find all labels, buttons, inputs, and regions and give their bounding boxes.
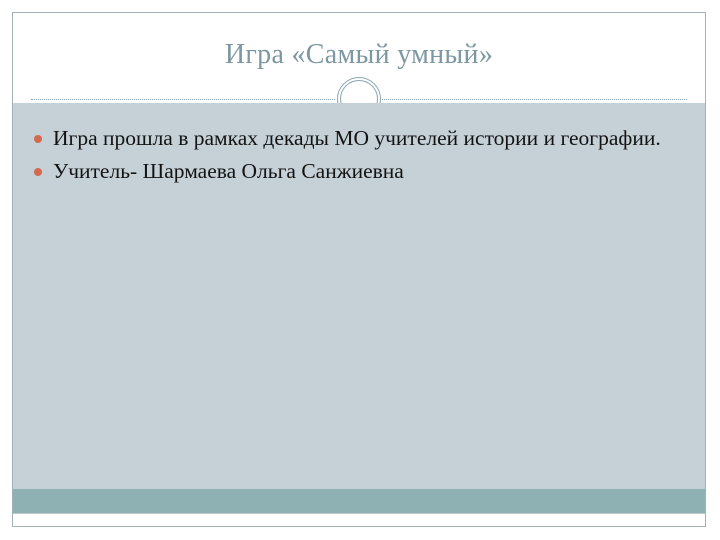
slide-title: Игра «Самый умный» — [13, 38, 705, 72]
bullet-list: Игра прошла в рамках декады МО учителей … — [25, 123, 679, 189]
slide-canvas: Игра «Самый умный» Игра прошла в рамках … — [12, 12, 706, 527]
slide-body: Игра прошла в рамках декады МО учителей … — [13, 103, 705, 504]
list-item-text: Учитель- Шармаева Ольга Санжиевна — [53, 159, 404, 183]
slide-footer-space — [13, 514, 705, 526]
list-item: Учитель- Шармаева Ольга Санжиевна — [25, 156, 679, 187]
list-item: Игра прошла в рамках декады МО учителей … — [25, 123, 679, 154]
bullet-dot-icon — [34, 135, 42, 143]
list-item-text: Игра прошла в рамках декады МО учителей … — [53, 126, 661, 150]
bullet-dot-icon — [34, 168, 42, 176]
accent-bar — [13, 489, 705, 514]
